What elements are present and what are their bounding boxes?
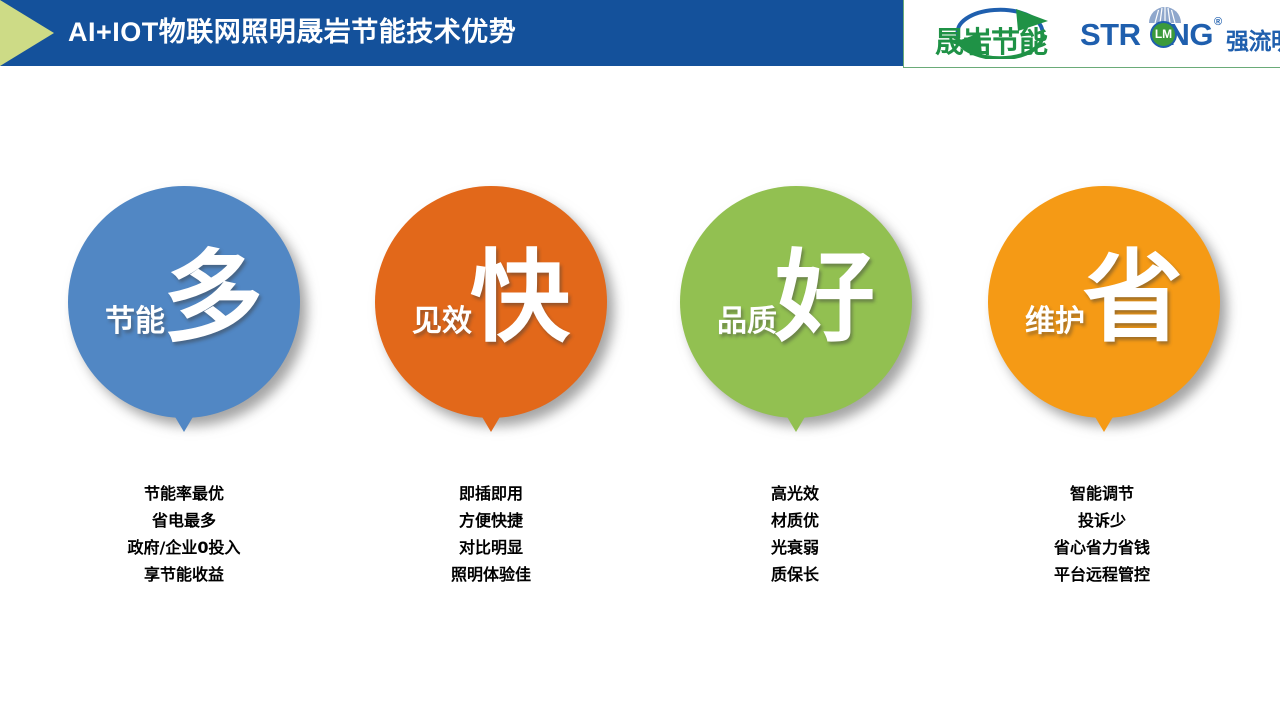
bubble-3: 品质 好 xyxy=(680,186,912,418)
bubble-4-small-word: 维护 xyxy=(1025,296,1085,340)
logo-lm-mark: LM xyxy=(1150,21,1177,48)
bubble-1-label: 节能 多 xyxy=(68,186,300,418)
caption-3: 高光效 材质优 光衰弱 质保长 xyxy=(675,480,915,588)
bubble-2-small-word: 见效 xyxy=(412,296,472,340)
caption-2: 即插即用 方便快捷 对比明显 照明体验佳 xyxy=(371,480,611,588)
bubble-2-label: 见效 快 xyxy=(375,186,607,418)
bubble-3-big-word: 好 xyxy=(775,248,875,348)
bubble-4-big-word: 省 xyxy=(1083,248,1183,348)
caption-4: 智能调节 投诉少 省心省力省钱 平台远程管控 xyxy=(982,480,1222,588)
bubble-2-big-word: 快 xyxy=(470,248,570,348)
bubble-1-big-word: 多 xyxy=(163,248,263,348)
bubble-1-small-word: 节能 xyxy=(105,296,165,340)
caption-4-line-1: 智能调节 xyxy=(982,480,1222,507)
bubble-1: 节能 多 xyxy=(68,186,300,418)
caption-1-line-1: 节能率最优 xyxy=(64,480,304,507)
caption-3-line-4: 质保长 xyxy=(675,561,915,588)
bubble-2: 见效 快 xyxy=(375,186,607,418)
caption-2-line-1: 即插即用 xyxy=(371,480,611,507)
bubble-3-small-word: 品质 xyxy=(717,296,777,340)
caption-3-line-3: 光衰弱 xyxy=(675,534,915,561)
caption-1-line-3: 政府/企业0投入 xyxy=(64,534,304,561)
bubble-3-label: 品质 好 xyxy=(680,186,912,418)
caption-3-line-2: 材质优 xyxy=(675,507,915,534)
caption-3-line-1: 高光效 xyxy=(675,480,915,507)
caption-1-line-2: 省电最多 xyxy=(64,507,304,534)
caption-1: 节能率最优 省电最多 政府/企业0投入 享节能收益 xyxy=(64,480,304,588)
logo-cn-brand: 晟岩节能 xyxy=(908,19,1074,61)
caption-4-line-3: 省心省力省钱 xyxy=(982,534,1222,561)
caption-4-line-2: 投诉少 xyxy=(982,507,1222,534)
caption-4-line-4: 平台远程管控 xyxy=(982,561,1222,588)
bubble-4: 维护 省 xyxy=(988,186,1220,418)
caption-2-line-3: 对比明显 xyxy=(371,534,611,561)
advantage-bubbles: 节能 多 见效 快 品质 好 维护 省 xyxy=(0,0,1280,720)
caption-1-line-4: 享节能收益 xyxy=(64,561,304,588)
caption-2-line-4: 照明体验佳 xyxy=(371,561,611,588)
caption-2-line-2: 方便快捷 xyxy=(371,507,611,534)
bubble-4-label: 维护 省 xyxy=(988,186,1220,418)
